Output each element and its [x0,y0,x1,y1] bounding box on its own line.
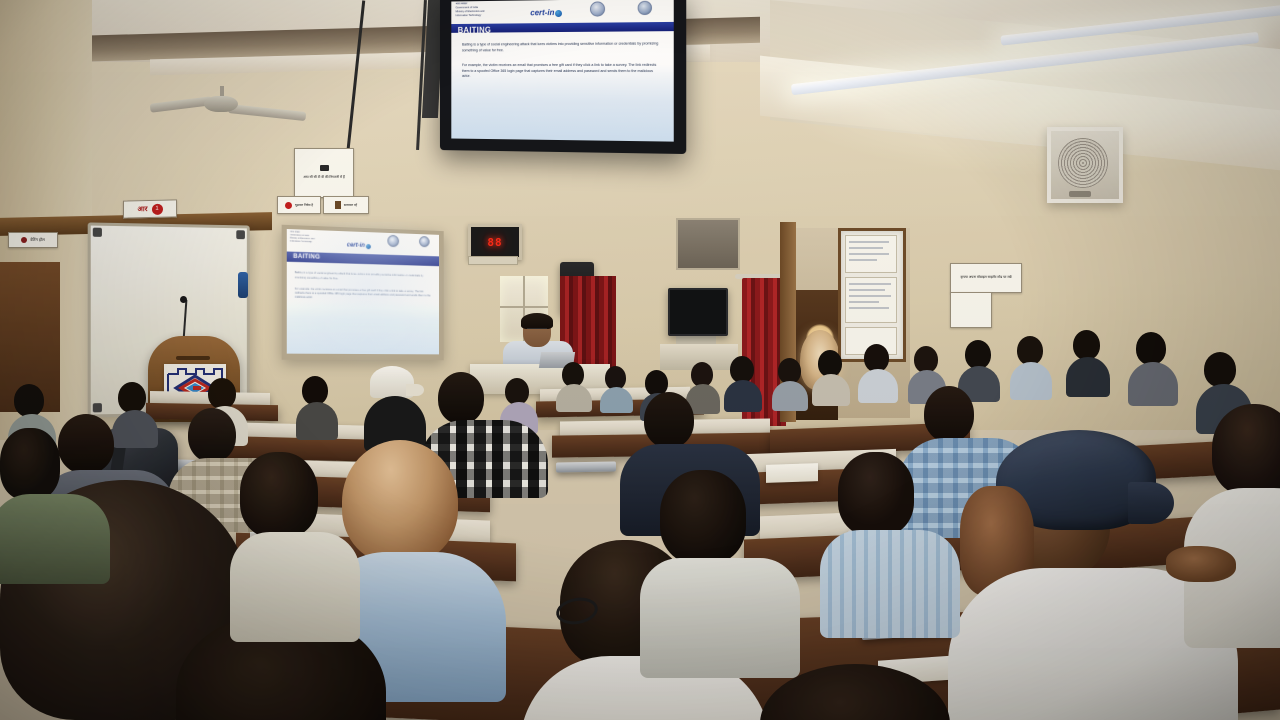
department-seal-icon [638,0,652,14]
head [1212,404,1280,496]
sign-cctv-notice: आप सी सी टी वी की निगरानी में हैं [294,148,354,198]
wall-hook-blue [238,272,248,298]
head [914,346,938,373]
head [818,350,842,377]
head [1204,352,1236,387]
slide-title-bar: BAITING [451,22,673,33]
head [240,452,318,538]
sign-marker-icon [21,237,27,243]
torso [1066,357,1110,397]
presentation-slide: भारत सरकार Government of India Ministry … [451,0,673,142]
cap-brim [1128,482,1174,524]
notice-line [849,253,889,255]
torso [112,410,158,448]
head [438,372,484,424]
head [208,378,236,409]
podium-slot [176,356,210,360]
head [188,408,236,462]
notice-line [849,241,889,243]
crt-monitor [668,288,728,336]
head [302,376,328,405]
torso [296,402,338,440]
torso [640,558,800,678]
head [14,384,44,417]
sign-caution: सावधान रहें [323,196,369,214]
slide-logo-row: भारत सरकार Government of India Ministry … [456,0,670,7]
head [1017,336,1043,365]
head [58,414,114,474]
torso [724,380,762,412]
head [864,344,889,372]
hand-on-desk [1166,546,1236,582]
whiteboard-corner [236,230,245,239]
whiteboard-corner [93,403,102,412]
sign-text: कृपया अपना मोबाइल साइलेंट मोड पर रखें [960,275,1011,280]
led-value: 88 [487,236,502,249]
led-token-display: 88 [468,224,522,260]
sign-mobile-silent: कृपया अपना मोबाइल साइलेंट मोड पर रखें [950,263,1022,293]
notice-line [849,289,885,291]
fan-blade [228,104,307,121]
sign-room-r1: आर 1 [123,199,177,218]
wall-tv-screen[interactable]: भारत सरकार Government of India Ministry … [451,0,673,142]
torso [820,530,960,638]
govt-india-emblem-text: भारत सरकार Government of India Ministry … [456,2,498,18]
slide-paragraph: Baiting is a type of social engineering … [462,41,662,53]
led-display-label [468,256,518,265]
torso [1010,362,1052,400]
cert-in-logo: cert-in [530,2,562,20]
papers [766,463,818,483]
exhaust-fan [1047,127,1123,203]
torso [230,532,360,642]
exhaust-fan-grill [1058,138,1108,188]
slide-paragraph: For example, the victim receives an emai… [462,63,662,80]
head [0,428,60,500]
bald-head [342,440,458,564]
whiteboard-corner [93,228,102,237]
laptop [556,461,616,472]
sign-text: धूम्रपान निषेध है [295,203,313,207]
notice-line [849,247,883,249]
notice-line [849,295,891,297]
torso [0,494,110,584]
exhaust-fan-switch [1069,191,1091,197]
notice-line [849,259,877,261]
prohibition-icon [285,202,292,209]
window-transom [500,306,548,308]
torso [858,369,898,403]
torso [600,387,633,413]
notice-line [849,307,889,309]
government-seal-icon [590,1,605,16]
torso [1128,362,1178,406]
torso [772,381,808,411]
notice-line [849,283,891,285]
sign-waiting-hall: वेटिंग हॉल [8,232,58,248]
head [965,340,991,369]
slide-header: भारत सरकार Government of India Ministry … [451,0,673,33]
notice-board [838,228,906,362]
head [644,392,694,448]
torso [812,374,850,406]
head [118,382,146,413]
sign-no-smoking: धूम्रपान निषेध है [277,196,321,214]
fan-blade [150,96,213,112]
photo-scene: भारत सरकार Government of India Ministry … [0,0,1280,720]
head [924,386,974,442]
sign-badge: 1 [152,203,163,214]
caution-icon [335,201,341,209]
head [730,356,754,383]
notice-line [849,301,879,303]
head [1073,330,1100,360]
poster-right-wall [950,292,992,328]
head [505,378,529,405]
head [1136,332,1166,365]
cctv-camera-icon [320,165,329,171]
microphone-icon [180,296,187,303]
slide-title: BAITING [458,25,492,34]
torso [556,384,592,412]
presenter-hair [521,313,553,329]
ceiling-fan-hub [204,96,238,112]
air-conditioner-unit [676,218,740,270]
sign-text: वेटिंग हॉल [30,237,45,243]
ceiling-fan [150,96,310,122]
slide-body: Baiting is a type of social engineering … [462,41,662,90]
head [660,470,746,564]
sign-text: सावधान रहें [344,203,357,207]
cap-brim [406,384,424,396]
presenter-spectacles [527,328,547,334]
projection-light-glow [280,222,456,368]
sign-text: आप सी सी टी वी की निगरानी में हैं [303,175,345,180]
sign-text: आर [137,205,147,214]
head [838,452,914,536]
